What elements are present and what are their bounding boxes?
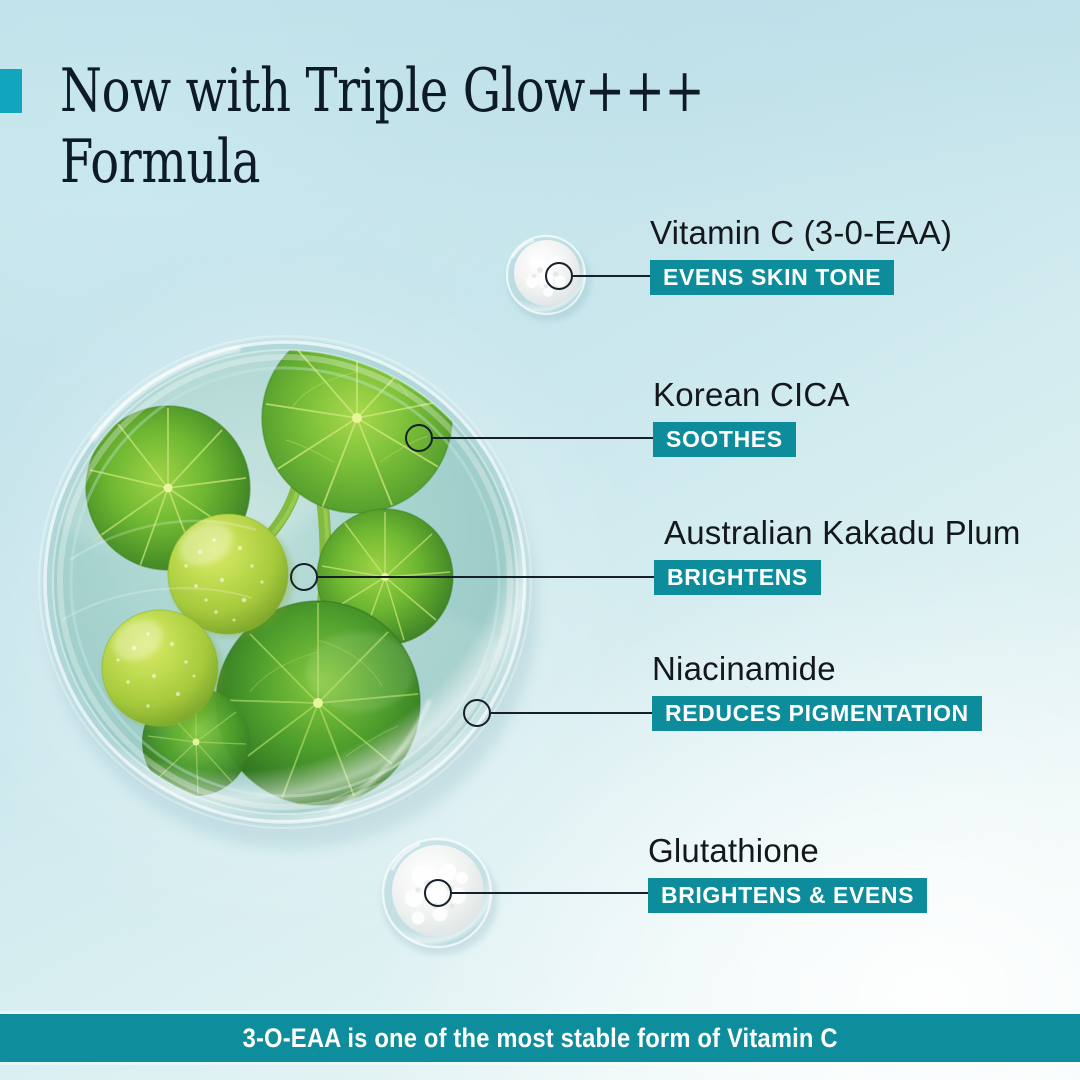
leader-line-niacinamide	[491, 712, 654, 714]
ingredient-name-niacinamide: Niacinamide	[652, 650, 836, 688]
infographic-root: Now with Triple Glow+++ Formula Vitamin …	[0, 0, 1080, 1080]
bottom-banner: 3-O-EAA is one of the most stable form o…	[0, 1014, 1080, 1062]
ingredient-name-glutathione: Glutathione	[648, 832, 819, 870]
ingredient-name-kakadu-plum: Australian Kakadu Plum	[664, 514, 1021, 552]
headline-line-2: Formula	[60, 127, 732, 198]
headline-accent-bar	[0, 69, 22, 113]
leader-line-kakadu-plum	[318, 576, 656, 578]
benefit-badge-niacinamide: REDUCES PIGMENTATION	[652, 696, 982, 731]
marker-vitamin-c[interactable]	[545, 262, 573, 290]
leader-line-glutathione	[452, 892, 650, 894]
benefit-badge-vitamin-c: EVENS SKIN TONE	[650, 260, 894, 295]
benefit-badge-korean-cica: SOOTHES	[653, 422, 796, 457]
bottom-banner-text: 3-O-EAA is one of the most stable form o…	[242, 1023, 837, 1054]
marker-korean-cica[interactable]	[405, 424, 433, 452]
marker-kakadu-plum[interactable]	[290, 563, 318, 591]
leader-line-vitamin-c	[573, 275, 650, 277]
page-title: Now with Triple Glow+++ Formula	[60, 56, 732, 198]
marker-niacinamide[interactable]	[463, 699, 491, 727]
banner-bottom-edge	[0, 1062, 1080, 1065]
leader-line-korean-cica	[433, 437, 658, 439]
marker-glutathione[interactable]	[424, 879, 452, 907]
benefit-badge-glutathione: BRIGHTENS & EVENS	[648, 878, 927, 913]
benefit-badge-kakadu-plum: BRIGHTENS	[654, 560, 821, 595]
headline-line-1: Now with Triple Glow+++	[60, 56, 732, 127]
ingredient-name-korean-cica: Korean CICA	[653, 376, 850, 414]
ingredient-name-vitamin-c: Vitamin C (3-0-EAA)	[650, 214, 952, 252]
